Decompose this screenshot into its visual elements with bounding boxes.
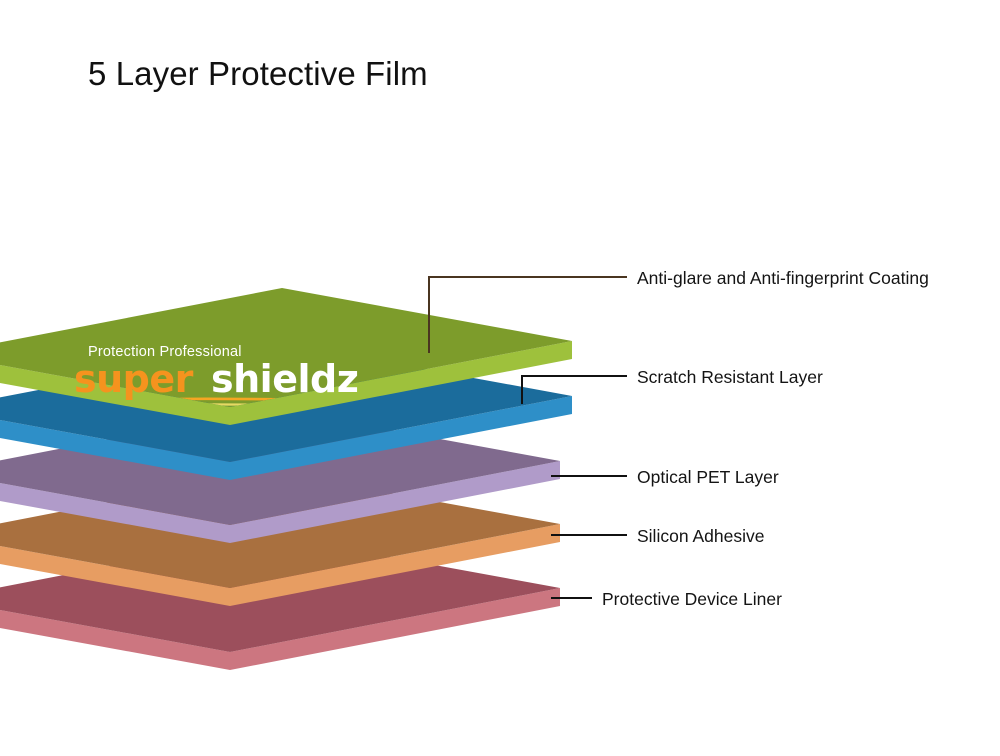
label-silicon-adhesive[interactable]: Silicon Adhesive bbox=[637, 526, 764, 547]
label-optical-pet-layer[interactable]: Optical PET Layer bbox=[637, 467, 779, 488]
label-protective-device-liner[interactable]: Protective Device Liner bbox=[602, 589, 782, 610]
diagram-canvas: 5 Layer Protective Film bbox=[0, 0, 1000, 756]
layer-stack-illustration bbox=[0, 0, 1000, 756]
label-scratch-resistant-layer[interactable]: Scratch Resistant Layer bbox=[637, 367, 823, 388]
label-anti-glare-coating[interactable]: Anti-glare and Anti-fingerprint Coating bbox=[637, 268, 929, 289]
